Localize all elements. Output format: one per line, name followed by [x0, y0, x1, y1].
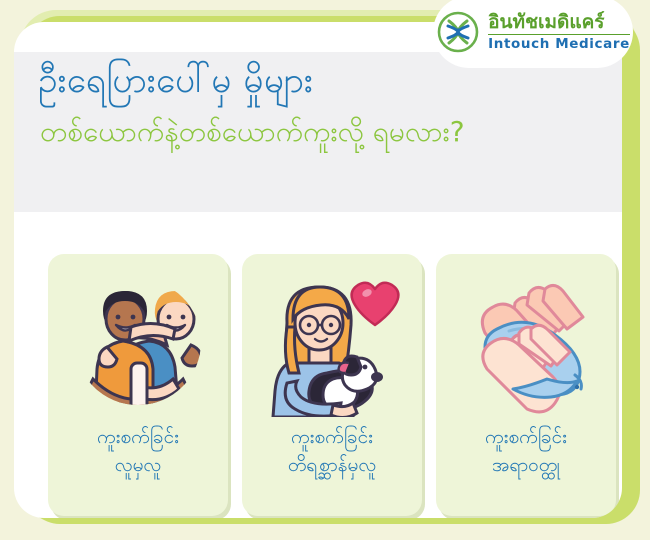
page-title: ဦးရေပြားပေါ်မှ မှိုများ [38, 60, 508, 104]
hands-with-towel-icon [436, 262, 616, 422]
card-label: ကူးစက်ခြင်း အရာဝတ္ထု [442, 424, 610, 479]
card-label-line2: လူမှလူ [54, 452, 222, 480]
card-label-line1: ကူးစက်ခြင်း [97, 426, 179, 448]
brand-name-thai: อินทัชเมดิแคร์ [488, 13, 630, 35]
brand-text: อินทัชเมดิแคร์ Intouch Medicare [488, 13, 630, 52]
card-label-line1: ကူးစက်ခြင်း [291, 426, 373, 448]
card-label: ကူးစက်ခြင်း လူမှလူ [54, 424, 222, 479]
heart-icon [352, 283, 399, 325]
brand-name-english: Intouch Medicare [488, 38, 630, 52]
card-label-line1: ကူးစက်ခြင်း [485, 426, 567, 448]
card-label-line2: တိရစ္ဆာန်မှလူ [248, 452, 416, 480]
card-object-transmission[interactable]: ကူးစက်ခြင်း အရာဝတ္ထု [436, 254, 616, 516]
card-label: ကူးစက်ခြင်း တိရစ္ဆာန်မှလူ [248, 424, 416, 479]
woman-holding-dog-icon [242, 262, 422, 422]
two-people-hugging-icon [48, 262, 228, 422]
main-panel: ဦးရေပြားပေါ်မှ မှိုများ တစ်ယောက်နဲ့တစ်ယေ… [14, 22, 622, 518]
card-label-line2: အရာဝတ္ထု [442, 452, 610, 480]
page-subtitle: တစ်ယောက်နဲ့တစ်ယောက်ကူးလို့ ရမလား? [40, 114, 620, 149]
brand-logo-badge[interactable]: อินทัชเมดิแคร์ Intouch Medicare [433, 0, 633, 68]
transmission-cards-list: ကူးစက်ခြင်း လူမှလူ [28, 254, 622, 518]
card-animal-to-person[interactable]: ကူးစက်ခြင်း တိရစ္ဆာန်မှလူ [242, 254, 422, 516]
card-person-to-person[interactable]: ကူးစက်ခြင်း လူမှလူ [48, 254, 228, 516]
intouch-medicare-emblem-icon [436, 10, 480, 54]
